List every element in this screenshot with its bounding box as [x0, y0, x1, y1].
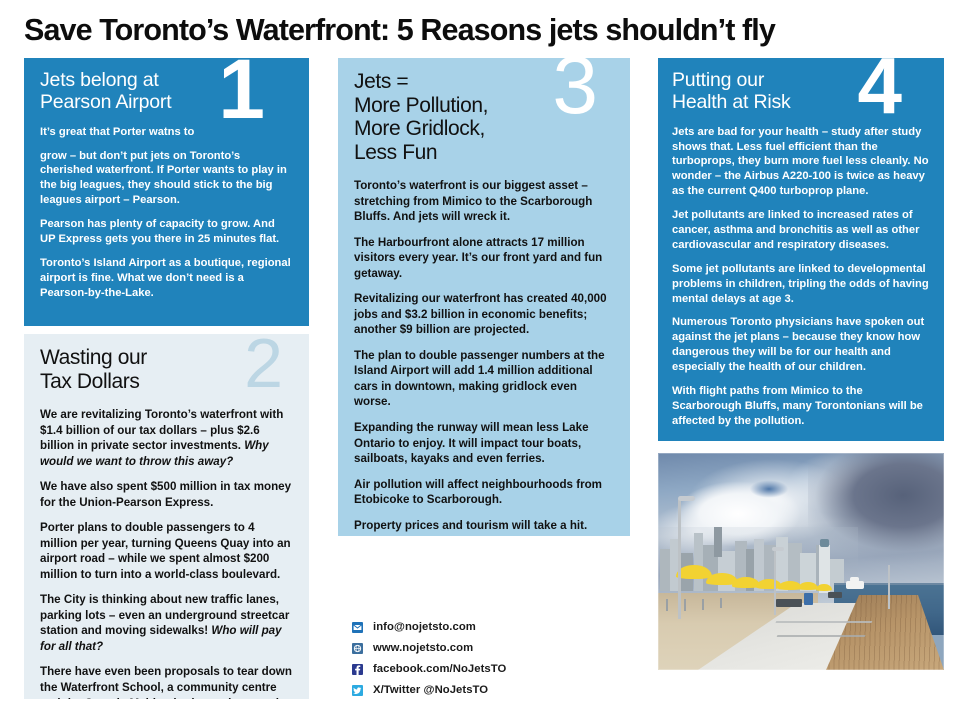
reason-title-line: Tax Dollars: [40, 370, 139, 393]
text-run: Porter plans to double passengers to 4 m…: [40, 521, 291, 581]
reason-body-2: We are revitalizing Toronto’s waterfront…: [40, 407, 293, 699]
email-icon: [352, 622, 363, 633]
reason-panel-1: 1 Jets belong atPearson Airport It’s gre…: [24, 58, 309, 326]
reason-title-1: Jets belong atPearson Airport: [40, 70, 240, 114]
reason-title-line: More Pollution,: [354, 94, 488, 117]
text-run: Toronto’s waterfront is our biggest asse…: [354, 179, 592, 223]
reason-panel-3: 3 Jets =More Pollution,More Gridlock,Les…: [338, 58, 630, 536]
contact-label: info@nojetsto.com: [373, 621, 476, 633]
contact-label: facebook.com/NoJetsTO: [373, 663, 506, 675]
reason-paragraph: Jet pollutants are linked to increased r…: [672, 208, 930, 253]
reason-paragraph: Jets are bad for your health – study aft…: [672, 125, 930, 199]
text-run: .: [388, 395, 391, 408]
reason-paragraph: The City is thinking about new traffic l…: [40, 592, 293, 654]
reason-paragraph: With flight paths from Mimico to the Sca…: [672, 384, 930, 429]
text-run: There have even been proposals to tear d…: [40, 665, 292, 699]
photo-frame: [658, 453, 944, 670]
contact-label: www.nojetsto.com: [373, 642, 473, 654]
reason-body-1: It’s great that Porter watns togrow – bu…: [40, 125, 292, 301]
text-run: Numerous Toronto physicians have spoken …: [672, 316, 924, 373]
text-run: Pearson has plenty of capacity to grow. …: [40, 218, 279, 245]
text-run: Union-Pearson Express: [79, 496, 210, 509]
reason-paragraph: Toronto’s waterfront is our biggest asse…: [354, 178, 612, 225]
reason-body-4: Jets are bad for your health – study aft…: [672, 125, 930, 429]
text-run: It’s great that Porter watns to: [40, 126, 194, 138]
text-run: Revitalizing our waterfront has created …: [354, 292, 607, 336]
reason-title-line: Wasting our: [40, 346, 147, 369]
reason-number-2: 2: [244, 334, 281, 393]
contact-row[interactable]: facebook.com/NoJetsTO: [352, 660, 632, 678]
text-run: The Harbourfront alone attracts 17 milli…: [354, 236, 602, 280]
contact-row[interactable]: info@nojetsto.com: [352, 618, 632, 636]
reason-title-line: More Gridlock,: [354, 117, 485, 140]
reason-paragraph: Property prices and tourism will take a …: [354, 518, 612, 534]
reason-panel-2: 2 Wasting ourTax Dollars We are revitali…: [24, 334, 309, 699]
contact-row[interactable]: www.nojetsto.com: [352, 639, 632, 657]
reason-paragraph: Porter plans to double passengers to 4 m…: [40, 520, 293, 582]
text-run: .: [210, 496, 213, 509]
reason-paragraph: Pearson has plenty of capacity to grow. …: [40, 217, 292, 247]
reason-paragraph: Air pollution will affect neighbourhoods…: [354, 477, 612, 508]
reason-body-3: Toronto’s waterfront is our biggest asse…: [354, 178, 612, 536]
reason-paragraph: The plan to double passenger numbers at …: [354, 348, 612, 410]
contact-list: info@nojetsto.comwww.nojetsto.comfaceboo…: [352, 618, 632, 702]
text-run: Property prices and tourism will take a …: [354, 519, 587, 532]
reason-paragraph: We are revitalizing Toronto’s waterfront…: [40, 407, 293, 469]
reason-title-line: Pearson Airport: [40, 91, 171, 113]
reason-paragraph: Some jet pollutants are linked to develo…: [672, 262, 930, 307]
reason-title-3: Jets =More Pollution,More Gridlock,Less …: [354, 70, 549, 164]
reason-panel-4: 4 Putting ourHealth at Risk Jets are bad…: [658, 58, 944, 441]
reason-title-2: Wasting ourTax Dollars: [40, 346, 240, 393]
contact-label: X/Twitter @NoJetsTO: [373, 684, 488, 696]
text-run: Some jet pollutants are linked to: [672, 263, 847, 275]
reason-title-line: Jets =: [354, 70, 408, 93]
reason-title-line: Less Fun: [354, 141, 437, 164]
waterfront-photo: [658, 453, 944, 670]
reason-paragraph: It’s great that Porter watns to: [40, 125, 292, 140]
poster-page: Save Toronto’s Waterfront: 5 Reasons jet…: [0, 0, 961, 699]
text-run: .: [886, 239, 889, 251]
reason-paragraph: There have even been proposals to tear d…: [40, 664, 293, 699]
facebook-icon: [352, 664, 363, 675]
reason-paragraph: Revitalizing our waterfront has created …: [354, 291, 612, 338]
reason-number-3: 3: [552, 58, 596, 121]
text-run: With flight paths from Mimico to the Sca…: [672, 385, 923, 427]
text-run: Jets are bad for your health –: [672, 126, 828, 138]
text-run: Jet pollutants are linked to: [672, 209, 817, 221]
reason-number-4: 4: [858, 58, 901, 119]
page-title: Save Toronto’s Waterfront: 5 Reasons jet…: [24, 14, 944, 46]
reason-paragraph: Expanding the runway will mean less Lake…: [354, 420, 612, 467]
reason-paragraph: The Harbourfront alone attracts 17 milli…: [354, 235, 612, 282]
twitter-icon: [352, 685, 363, 696]
reason-title-4: Putting ourHealth at Risk: [672, 70, 852, 114]
contact-row[interactable]: X/Twitter @NoJetsTO: [352, 681, 632, 699]
reason-paragraph: Toronto’s Island Airport as a boutique, …: [40, 256, 292, 301]
reason-title-line: Jets belong at: [40, 69, 159, 91]
reason-title-line: Health at Risk: [672, 91, 791, 113]
text-run: Air pollution: [354, 478, 422, 491]
globe-icon: [352, 643, 363, 654]
reason-paragraph: We have also spent $500 million in tax m…: [40, 479, 293, 510]
reason-paragraph: grow – but don’t put jets on Toronto’s c…: [40, 149, 292, 209]
reason-paragraph: Numerous Toronto physicians have spoken …: [672, 315, 930, 375]
reason-title-line: Putting our: [672, 69, 764, 91]
